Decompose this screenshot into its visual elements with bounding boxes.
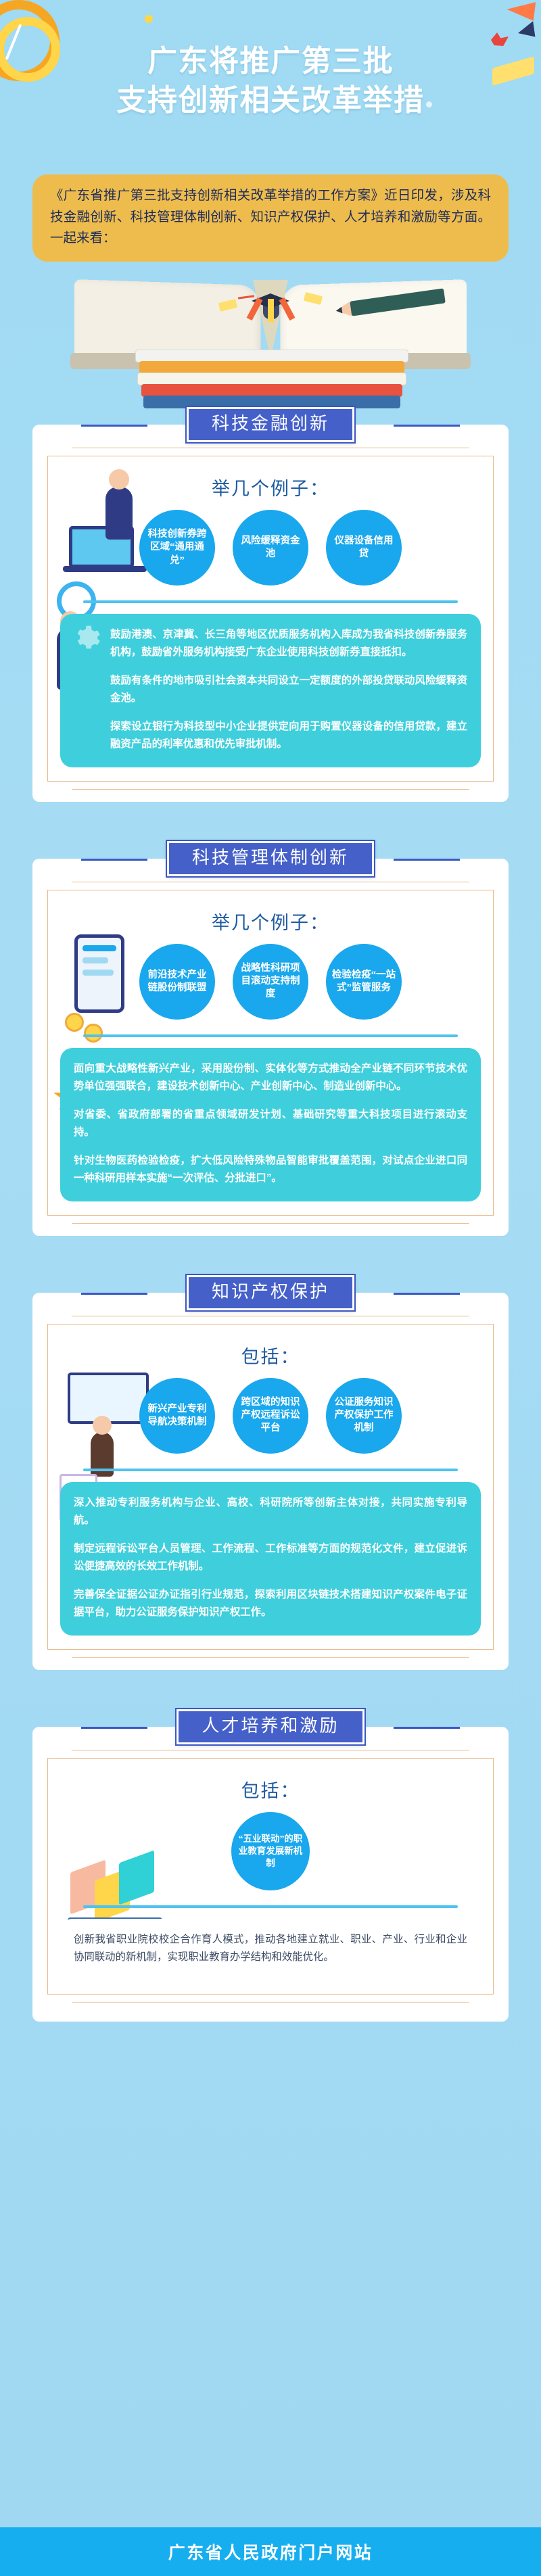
panel-inner-1: 举几个例子： 科技创新券跨区域“通用通兑” 风险缓释资金池 仪器设备信用贷 鼓励…: [47, 456, 494, 782]
page-title-line1: 广东将推广第三批: [147, 45, 394, 78]
bubble-group-3: 新兴产业专利导航决策机制 跨区域的知识产权远程诉讼平台 公证服务知识产权保护工作…: [60, 1378, 481, 1454]
section-title: 科技管理体制创新: [167, 841, 374, 876]
spacer: [0, 802, 541, 840]
bubble-item[interactable]: 跨区域的知识产权远程诉讼平台: [233, 1378, 308, 1454]
detail-box-2: 面向重大战略性新兴产业，采用股份制、实体化等方式推动全产业链不同环节技术优势单位…: [60, 1048, 481, 1201]
detail-paragraph: 面向重大战略性新兴产业，采用股份制、实体化等方式推动全产业链不同环节技术优势单位…: [74, 1060, 467, 1096]
books-illustration: [0, 252, 541, 408]
bubble-group-1: 科技创新券跨区域“通用通兑” 风险缓释资金池 仪器设备信用贷: [60, 510, 481, 586]
section-title: 科技金融创新: [187, 407, 354, 442]
examples-label-4: 包括：: [60, 1776, 481, 1803]
bubble-group-2: 前沿技术产业链股份制联盟 战略性科研项目滚动支持制度 检验检疫“一站式”监管服务: [60, 944, 481, 1020]
open-book-illustration: [81, 272, 460, 358]
bubble-group-4: “五业联动”的职业教育发展新机制: [60, 1812, 481, 1890]
graduation-cap-icon: [253, 293, 288, 320]
section-header-keji-jinrong: 科技金融创新: [0, 406, 541, 444]
detail-box-1: 鼓励港澳、京津冀、长三角等地区优质服务机构入库成为我省科技创新券服务机构，鼓励省…: [60, 614, 481, 767]
examples-label-1: 举几个例子：: [60, 474, 481, 500]
detail-paragraph: 鼓励港澳、京津冀、长三角等地区优质服务机构入库成为我省科技创新券服务机构，鼓励省…: [110, 626, 467, 662]
book-stack: [133, 351, 411, 408]
bubble-item[interactable]: “五业联动”的职业教育发展新机制: [231, 1812, 310, 1890]
detail-box-4: 创新我省职业院校校企合作育人模式，推动各地建立就业、职业、产业、行业和企业协同联…: [60, 1919, 481, 1980]
bubble-item[interactable]: 仪器设备信用贷: [326, 510, 402, 586]
infographic-poster: 广东将推广第三批 支持创新相关改革举措 《广东省推广第三批支持创新相关改革举措的…: [0, 0, 541, 2576]
bubble-item[interactable]: 风险缓释资金池: [233, 510, 308, 586]
bubble-item[interactable]: 检验检疫“一站式”监管服务: [326, 944, 402, 1020]
examples-label-3: 包括：: [60, 1342, 481, 1368]
intro-card: 《广东省推广第三批支持创新相关改革举措的工作方案》近日印发，涉及科技金融创新、科…: [32, 174, 509, 262]
page-title-line2: 支持创新相关改革举措: [0, 81, 541, 120]
spacer: [0, 1670, 541, 1708]
detail-paragraph: 鼓励有条件的地市吸引社会资本共同设立一定额度的外部投贷联动风险缓释资金池。: [110, 672, 467, 708]
panel-inner-4: 包括： “五业联动”的职业教育发展新机制 创新我省职业院校校企合作育人模式，推动…: [47, 1758, 494, 1995]
detail-paragraph: 针对生物医药检验检疫，扩大低风险特殊物品智能审批覆盖范围，对试点企业进口同一种科…: [74, 1152, 467, 1188]
footer-bar: 广东省人民政府门户网站: [0, 2527, 541, 2576]
detail-paragraph: 深入推动专利服务机构与企业、高校、科研院所等创新主体对接，共同实施专利导航。: [74, 1494, 467, 1530]
divider: [83, 1469, 458, 1471]
header-rule-left: [81, 1727, 147, 1729]
hero-section: 广东将推广第三批 支持创新相关改革举措 《广东省推广第三批支持创新相关改革举措的…: [0, 0, 541, 406]
header-rule-right: [394, 1727, 460, 1729]
section-panel-2: 举几个例子： 前沿技术产业链股份制联盟 战略性科研项目滚动支持制度 检验检疫“一…: [32, 859, 509, 1236]
header-rule-left: [81, 859, 147, 861]
divider: [83, 600, 458, 603]
page-title: 广东将推广第三批 支持创新相关改革举措: [0, 42, 541, 120]
detail-paragraph: 探索设立银行为科技型中小企业提供定向用于购置仪器设备的信用贷款，建立融资产品的利…: [110, 718, 467, 754]
detail-paragraph: 对省委、省政府部署的省重点领域研发计划、基础研究等重大科技项目进行滚动支持。: [74, 1106, 467, 1142]
paper-plane-shadow-icon: [518, 19, 538, 37]
dot-decor: [145, 15, 153, 23]
examples-label-2: 举几个例子：: [60, 908, 481, 934]
section-panel-4: 包括： “五业联动”的职业教育发展新机制 创新我省职业院校校企合作育人模式，推动…: [32, 1727, 509, 2022]
section-header-zhishi-chanquan: 知识产权保护: [0, 1274, 541, 1312]
header-rule-left: [81, 1293, 147, 1295]
bubble-item[interactable]: 战略性科研项目滚动支持制度: [233, 944, 308, 1020]
section-header-keji-guanli: 科技管理体制创新: [0, 840, 541, 878]
footer-label: 广东省人民政府门户网站: [168, 2539, 373, 2564]
gear-icon: [71, 623, 101, 653]
bubble-item[interactable]: 前沿技术产业链股份制联盟: [139, 944, 215, 1020]
section-title: 知识产权保护: [187, 1275, 354, 1310]
bubble-item[interactable]: 科技创新券跨区域“通用通兑”: [139, 510, 215, 586]
header-rule-right: [394, 859, 460, 861]
section-header-rencai-peiyang: 人才培养和激励: [0, 1708, 541, 1746]
section-panel-3: 包括： 新兴产业专利导航决策机制 跨区域的知识产权远程诉讼平台 公证服务知识产权…: [32, 1293, 509, 1670]
section-title: 人才培养和激励: [177, 1709, 364, 1744]
divider: [83, 1034, 458, 1037]
header-rule-right: [394, 1293, 460, 1295]
section-panel-1: 举几个例子： 科技创新券跨区域“通用通兑” 风险缓释资金池 仪器设备信用贷 鼓励…: [32, 425, 509, 802]
ray-decor: [268, 299, 274, 322]
header-rule-right: [394, 425, 460, 427]
detail-box-3: 深入推动专利服务机构与企业、高校、科研院所等创新主体对接，共同实施专利导航。 制…: [60, 1482, 481, 1636]
detail-paragraph: 创新我省职业院校校企合作育人模式，推动各地建立就业、职业、产业、行业和企业协同联…: [74, 1931, 467, 1967]
panel-inner-2: 举几个例子： 前沿技术产业链股份制联盟 战略性科研项目滚动支持制度 检验检疫“一…: [47, 890, 494, 1216]
detail-paragraph: 完善保全证据公证办证指引行业规范，探索利用区块链技术搭建知识产权案件电子证据平台…: [74, 1586, 467, 1622]
bubble-item[interactable]: 公证服务知识产权保护工作机制: [326, 1378, 402, 1454]
bubble-item[interactable]: 新兴产业专利导航决策机制: [139, 1378, 215, 1454]
header-rule-left: [81, 425, 147, 427]
spacer: [0, 1236, 541, 1274]
detail-paragraph: 制定远程诉讼平台人员管理、工作流程、工作标准等方面的规范化文件，建立促进诉讼便捷…: [74, 1540, 467, 1576]
divider: [83, 1905, 458, 1908]
panel-inner-3: 包括： 新兴产业专利导航决策机制 跨区域的知识产权远程诉讼平台 公证服务知识产权…: [47, 1324, 494, 1650]
